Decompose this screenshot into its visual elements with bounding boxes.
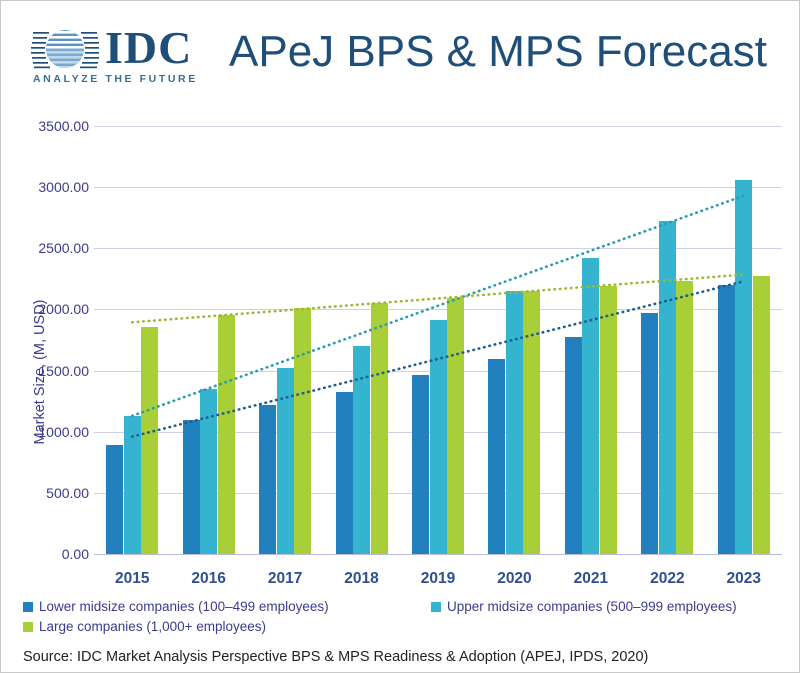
chart-legend: Lower midsize companies (100–499 employe… <box>1 599 800 643</box>
bar <box>447 298 464 554</box>
bar <box>183 420 200 555</box>
bar <box>218 315 235 554</box>
x-axis-tick-label: 2017 <box>268 570 302 588</box>
bar <box>718 285 735 554</box>
chart-page: IDC ANALYZE THE FUTURE APeJ BPS & MPS Fo… <box>0 0 800 673</box>
y-axis-tick-label: 1000.00 <box>5 424 89 440</box>
bar <box>412 375 429 554</box>
gridline <box>94 248 782 249</box>
bar <box>488 359 505 554</box>
x-axis-tick-label: 2019 <box>421 570 455 588</box>
bar <box>336 392 353 554</box>
chart-container: Market Size, (M, USD) 0.00500.001000.001… <box>1 109 800 596</box>
legend-item[interactable]: Upper midsize companies (500–999 employe… <box>431 599 737 614</box>
x-axis-tick-label: 2022 <box>650 570 684 588</box>
legend-swatch-icon <box>23 622 33 632</box>
x-axis-tick-label: 2021 <box>574 570 608 588</box>
bar <box>200 389 217 554</box>
bar <box>353 346 370 554</box>
page-header: IDC ANALYZE THE FUTURE APeJ BPS & MPS Fo… <box>1 1 800 109</box>
gridline <box>94 554 782 555</box>
bar <box>277 368 294 554</box>
y-axis-tick-label: 500.00 <box>5 485 89 501</box>
x-axis-tick-label: 2015 <box>115 570 149 588</box>
y-axis-tick-label: 0.00 <box>5 546 89 562</box>
bar <box>124 416 141 554</box>
bar <box>141 327 158 554</box>
x-axis-tick-label: 2020 <box>497 570 531 588</box>
y-axis-tick-label: 3000.00 <box>5 179 89 195</box>
bar <box>506 291 523 554</box>
y-axis-tick-label: 1500.00 <box>5 363 89 379</box>
bar <box>523 291 540 554</box>
bar <box>371 303 388 554</box>
source-note: Source: IDC Market Analysis Perspective … <box>23 649 648 665</box>
bar <box>259 405 276 554</box>
bar <box>659 221 676 554</box>
bar <box>294 308 311 554</box>
bar <box>430 320 447 554</box>
idc-logo: IDC ANALYZE THE FUTURE <box>31 25 206 87</box>
y-axis-tick-label: 2500.00 <box>5 240 89 256</box>
bar <box>106 445 123 554</box>
gridline <box>94 187 782 188</box>
page-title: APeJ BPS & MPS Forecast <box>229 27 781 77</box>
bar <box>582 258 599 554</box>
legend-swatch-icon <box>23 602 33 612</box>
bar <box>641 313 658 554</box>
idc-globe-logo-icon <box>31 25 99 73</box>
y-axis-tick-label: 3500.00 <box>5 118 89 134</box>
idc-wordmark: IDC <box>105 23 192 73</box>
y-axis-tick-label: 2000.00 <box>5 301 89 317</box>
legend-swatch-icon <box>431 602 441 612</box>
bar <box>676 281 693 554</box>
x-axis-tick-label: 2023 <box>727 570 761 588</box>
legend-item[interactable]: Large companies (1,000+ employees) <box>23 619 266 634</box>
legend-label: Lower midsize companies (100–499 employe… <box>39 599 329 614</box>
x-axis-tick-label: 2016 <box>191 570 225 588</box>
gridline <box>94 126 782 127</box>
bar <box>565 337 582 554</box>
legend-label: Upper midsize companies (500–999 employe… <box>447 599 737 614</box>
legend-label: Large companies (1,000+ employees) <box>39 619 266 634</box>
bar <box>753 276 770 554</box>
legend-item[interactable]: Lower midsize companies (100–499 employe… <box>23 599 329 614</box>
bar <box>600 286 617 554</box>
idc-tagline: ANALYZE THE FUTURE <box>33 73 198 85</box>
x-axis-tick-label: 2018 <box>344 570 378 588</box>
bar <box>735 180 752 554</box>
